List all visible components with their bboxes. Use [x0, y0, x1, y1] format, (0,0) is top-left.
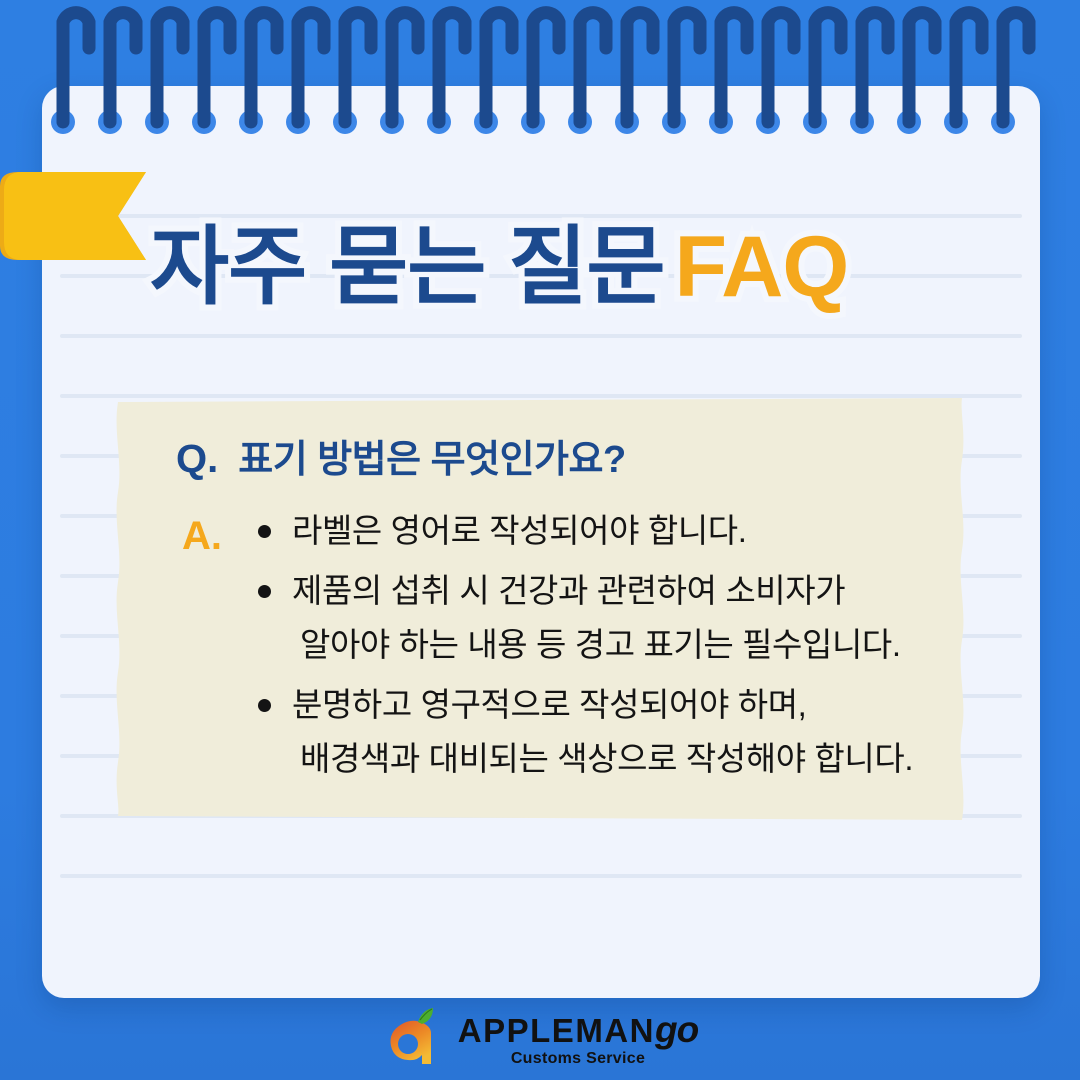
- footer-brand-bar: APPLEMANgo Customs Service: [0, 998, 1080, 1080]
- answer-marker: A.: [182, 514, 222, 559]
- list-item-line2: 알아야 하는 내용 등 경고 표기는 필수입니다.: [292, 618, 950, 672]
- list-item-line1: 분명하고 영구적으로 작성되어야 하며,: [292, 686, 806, 723]
- page-title: 자주 묻는 질문FAQ: [150, 224, 848, 310]
- brand-name-go: go: [655, 1009, 698, 1050]
- faq-content: Q. 표기 방법은 무엇인가요? A. 라벨은 영어로 작성되어야 합니다. 제…: [110, 392, 972, 824]
- answer-bullet-list: 라벨은 영어로 작성되어야 합니다. 제품의 섭취 시 건강과 관련하여 소비자…: [250, 504, 950, 792]
- brand-wordmark: APPLEMANgo Customs Service: [458, 1011, 698, 1067]
- title-korean: 자주 묻는 질문: [150, 219, 665, 315]
- list-item-line1: 라벨은 영어로 작성되어야 합니다.: [292, 512, 747, 549]
- brand-tagline: Customs Service: [458, 1051, 698, 1067]
- list-item: 분명하고 영구적으로 작성되어야 하며, 배경색과 대비되는 색상으로 작성해야…: [250, 678, 950, 786]
- title-faq: FAQ: [675, 219, 849, 315]
- list-item-line2: 배경색과 대비되는 색상으로 작성해야 합니다.: [292, 732, 950, 786]
- brand-logo: APPLEMANgo Customs Service: [382, 1006, 698, 1073]
- brand-name-main: APPLEMAN: [458, 1012, 655, 1049]
- list-item-line1: 제품의 섭취 시 건강과 관련하여 소비자가: [292, 572, 845, 609]
- bullet-dot-icon: [258, 525, 271, 538]
- question-marker: Q.: [176, 437, 218, 482]
- question-text: 표기 방법은 무엇인가요?: [238, 428, 625, 483]
- list-item: 제품의 섭취 시 건강과 관련하여 소비자가 알아야 하는 내용 등 경고 표기…: [250, 564, 950, 672]
- apple-mango-logo-icon: [382, 1006, 444, 1073]
- list-item: 라벨은 영어로 작성되어야 합니다.: [250, 504, 950, 558]
- bullet-dot-icon: [258, 585, 271, 598]
- faq-card: 자주 묻는 질문FAQ Q. 표기 방법은 무엇인가요? A. 라벨은 영어로 …: [0, 0, 1080, 1080]
- question-row: Q. 표기 방법은 무엇인가요?: [176, 428, 626, 483]
- brand-name: APPLEMANgo: [458, 1011, 698, 1048]
- bullet-dot-icon: [258, 699, 271, 712]
